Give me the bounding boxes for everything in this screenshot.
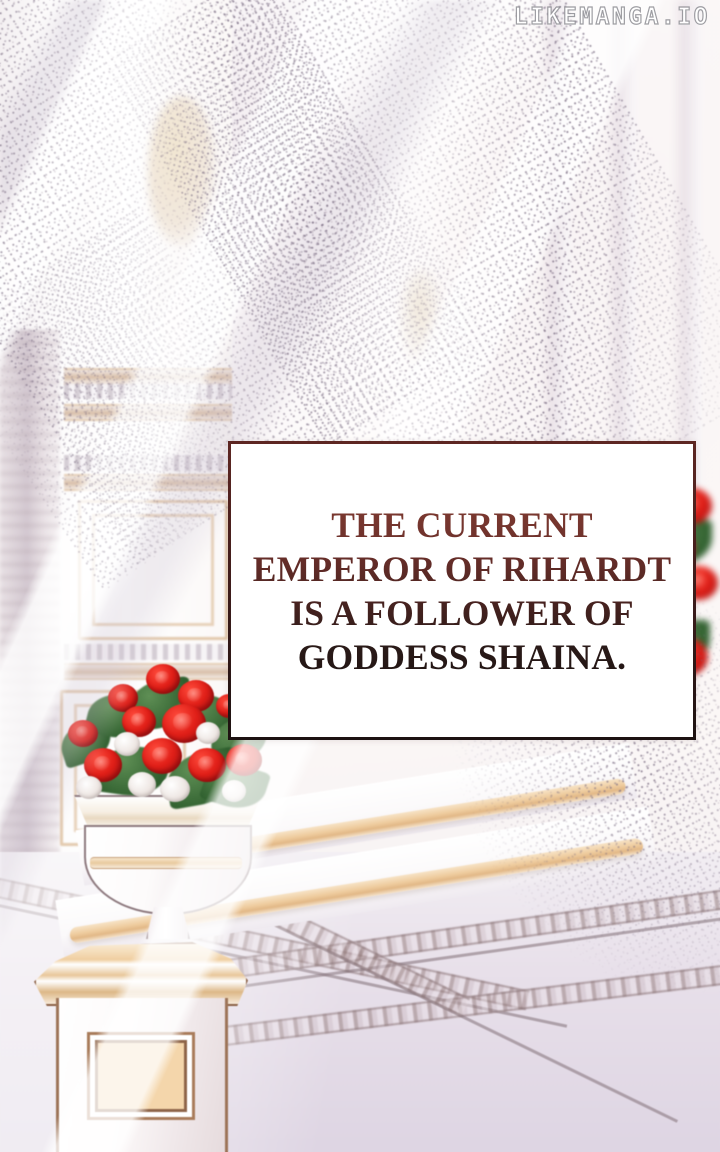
caption-line-2: EMPEROR OF RIHARDT [253, 547, 671, 591]
caption-line-3: IS A FOLLOWER OF [253, 591, 671, 635]
caption-line-4: GODDESS SHAINA. [253, 635, 671, 679]
caption-box: THE CURRENT EMPEROR OF RIHARDT IS A FOLL… [228, 441, 696, 740]
caption-line-1: THE CURRENT [253, 503, 671, 547]
caption-text: THE CURRENT EMPEROR OF RIHARDT IS A FOLL… [237, 503, 687, 679]
site-watermark: LIKEMANGA.IO [514, 4, 710, 30]
manga-panel: THE CURRENT EMPEROR OF RIHARDT IS A FOLL… [0, 0, 720, 1152]
